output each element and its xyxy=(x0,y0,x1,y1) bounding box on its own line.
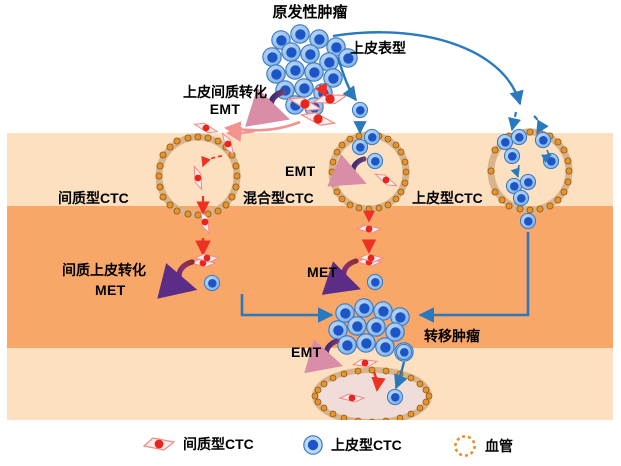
label-met-cn: 间质上皮转化 xyxy=(62,262,146,278)
legend-item-vessel: 血管 xyxy=(452,434,513,458)
label-epithelial-ctc: 上皮型CTC xyxy=(412,190,483,206)
met-symbol-icon xyxy=(179,262,192,288)
met-symbol-icon-middle xyxy=(344,261,356,287)
legend-label-mesenchymal: 间质型CTC xyxy=(183,434,254,454)
met-conversion-left xyxy=(179,254,220,291)
legend-item-mesenchymal: 间质型CTC xyxy=(142,434,254,454)
label-hybrid-ctc: 混合型CTC xyxy=(243,190,314,206)
legend-item-epithelial: 上皮型CTC xyxy=(302,434,402,456)
label-met-middle: MET xyxy=(307,264,337,280)
label-metastatic-tumor: 转移肿瘤 xyxy=(424,328,480,344)
label-epithelial-phenotype: 上皮表型 xyxy=(350,40,406,56)
page-title: 原发性肿瘤 xyxy=(255,4,365,21)
cell-epithelial-in-metsite xyxy=(387,389,402,404)
label-emt-bottom: EMT xyxy=(291,344,321,360)
vessel-metastatic-site xyxy=(312,367,432,425)
round-blue-cell-icon xyxy=(302,434,324,456)
label-emt-en: EMT xyxy=(170,101,280,117)
legend-label-vessel: 血管 xyxy=(485,436,513,456)
label-met-en: MET xyxy=(95,282,125,298)
arrow-met-to-metastasis-left xyxy=(242,294,332,315)
emt-symbol-icon-bottom xyxy=(326,341,337,364)
emt-symbol-icon xyxy=(353,159,364,181)
epithelial-ctc-group xyxy=(497,129,558,228)
legend-label-epithelial: 上皮型CTC xyxy=(331,435,402,455)
figure-canvas: 原发性肿瘤 上皮表型 上皮间质转化 EMT 间质型CTC EMT 混合型CTC … xyxy=(0,0,621,466)
legend: 间质型CTC 上皮型CTC 血管 xyxy=(0,424,621,466)
met-conversion-middle xyxy=(344,254,383,290)
spindle-red-cell-icon xyxy=(142,435,176,453)
label-emt-middle: EMT xyxy=(285,163,315,179)
diagram-graphics xyxy=(0,0,621,466)
dotted-vessel-circle-icon xyxy=(452,434,478,458)
label-emt-cn: 上皮间质转化 xyxy=(170,84,280,100)
arrow-ctc-to-metastasis-right xyxy=(420,232,528,315)
label-mesenchymal-ctc: 间质型CTC xyxy=(58,190,129,206)
